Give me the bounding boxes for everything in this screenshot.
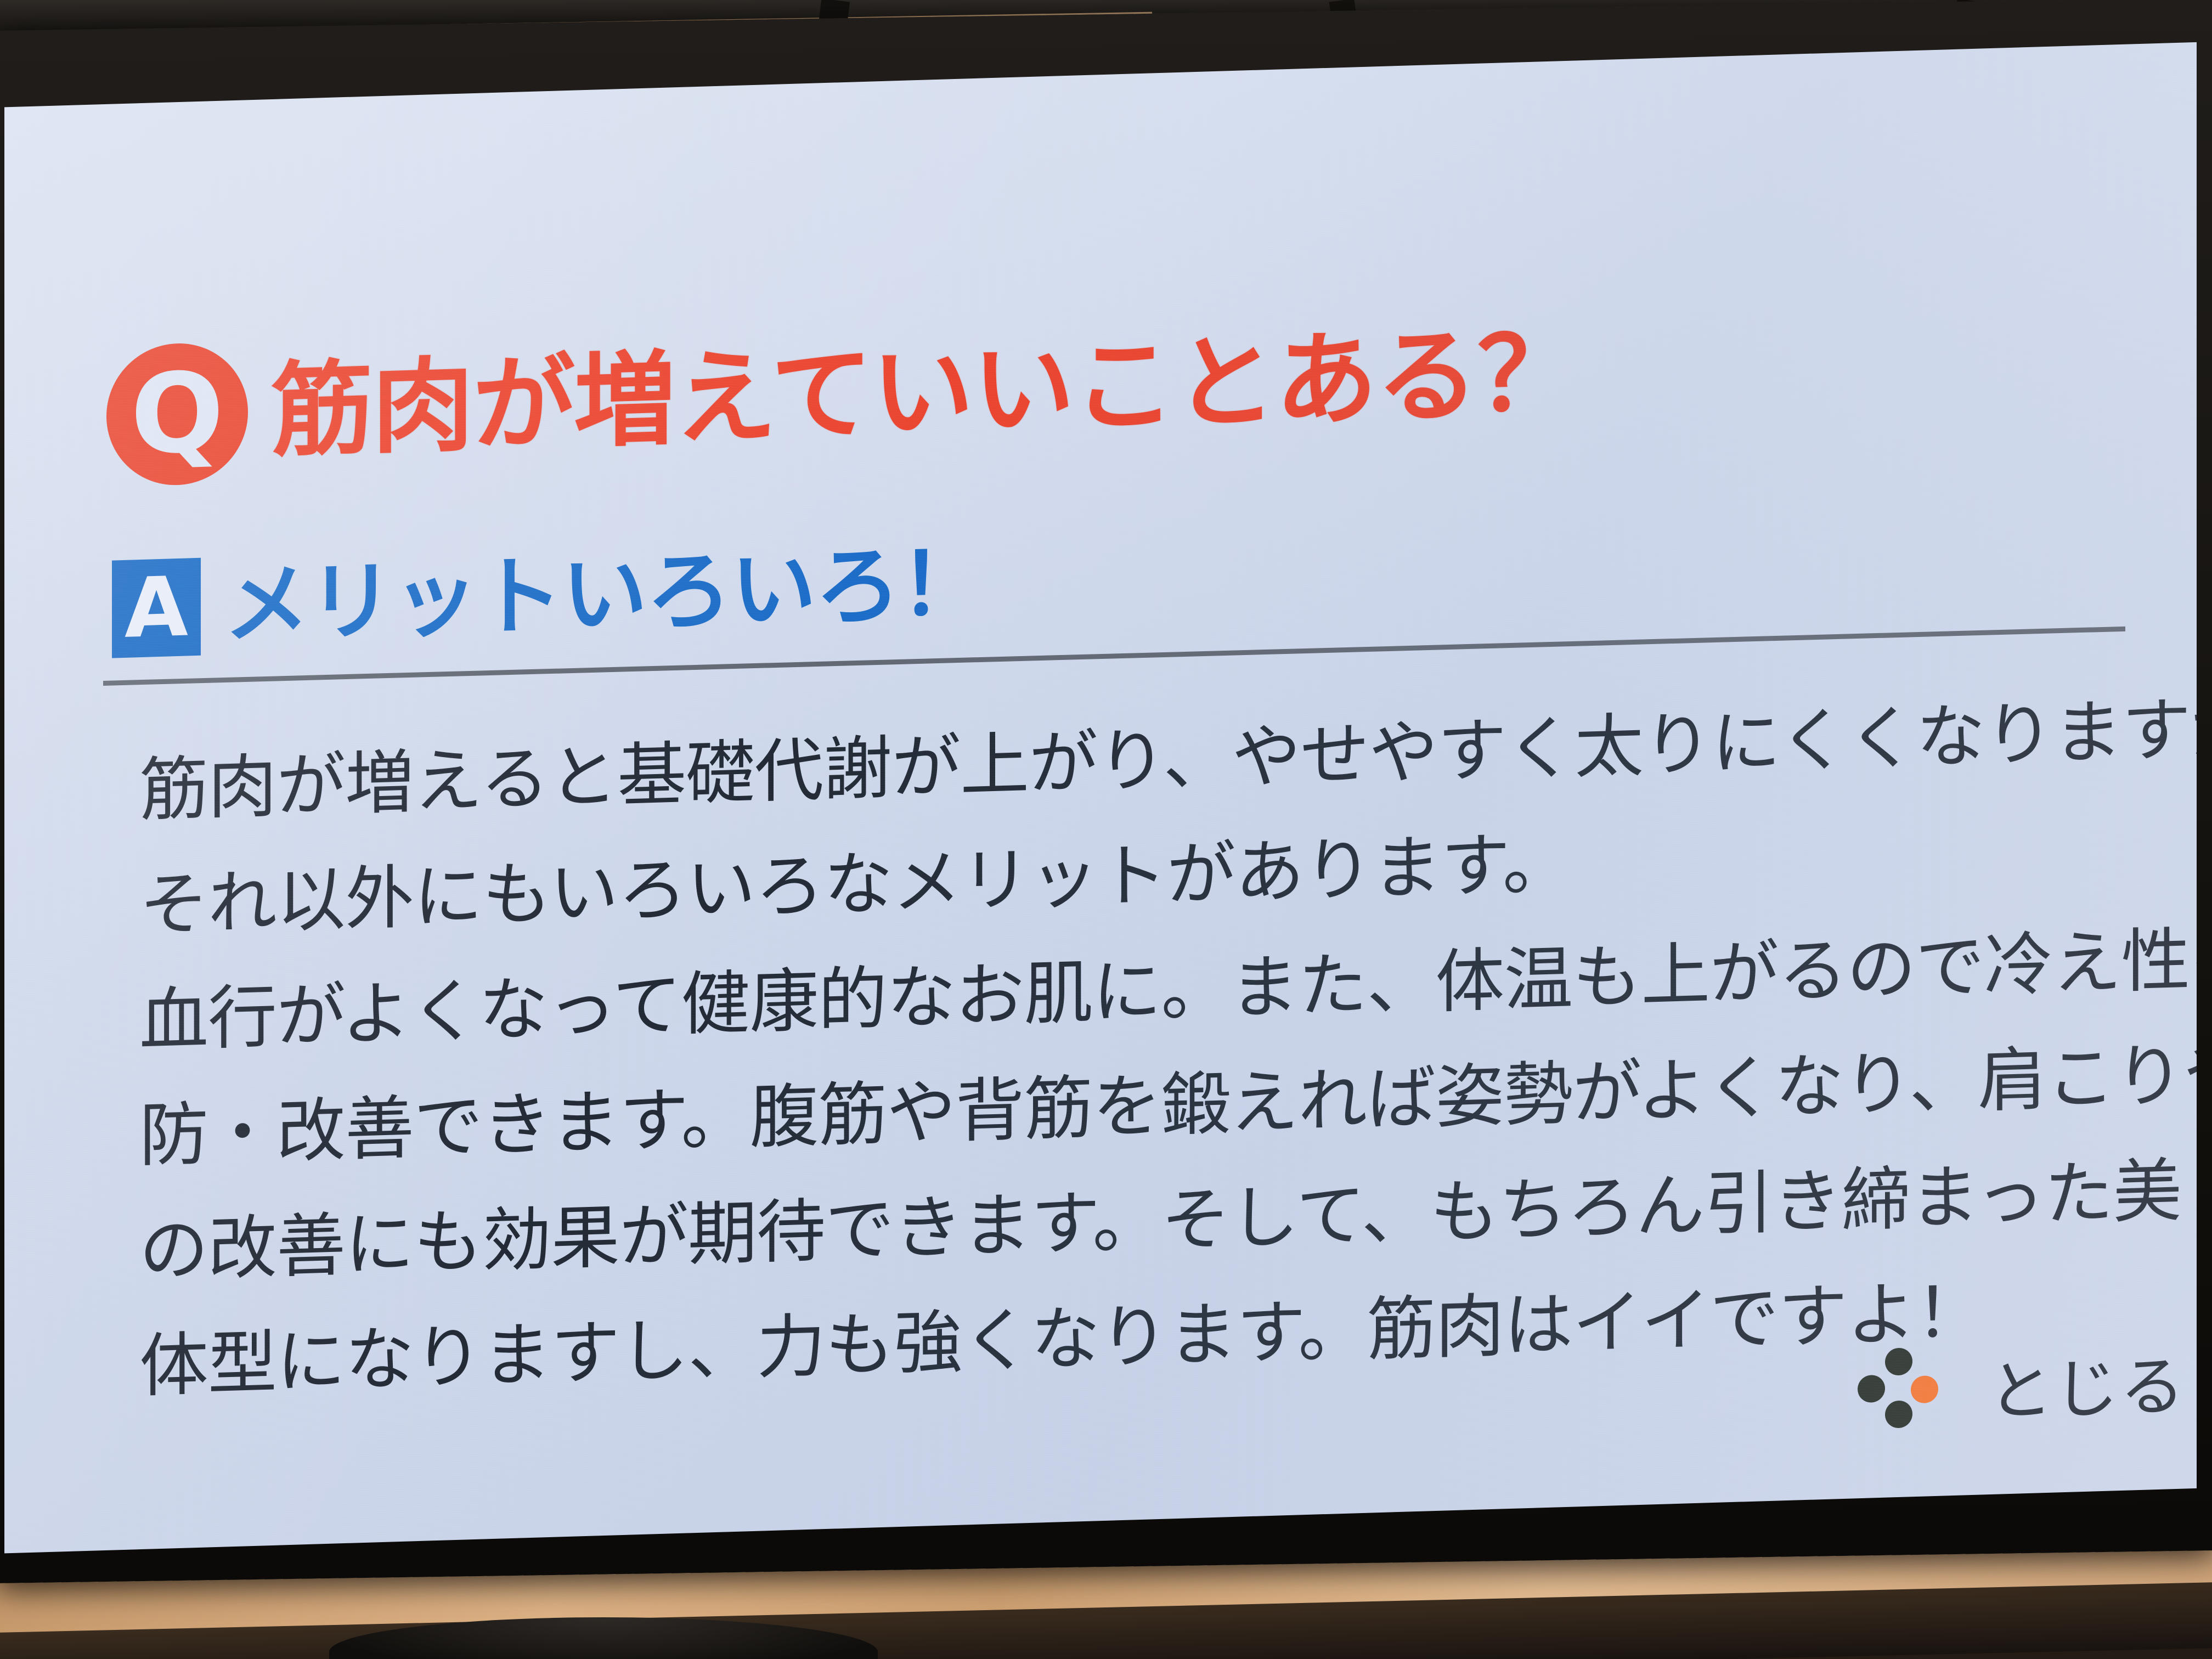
question-badge-icon: Q [106, 341, 248, 487]
answer-title: メリットいろいろ！ [224, 540, 984, 650]
tv-screen: Q 筋肉が増えていいことある？ A メリットいろいろ！ 筋肉が増えると基礎代謝が… [4, 42, 2197, 1554]
dpad-four-dot-icon [1858, 1346, 1940, 1431]
question-title: 筋肉が増えていいことある？ [271, 320, 1578, 463]
question-row: Q 筋肉が増えていいことある？ [106, 302, 1578, 487]
dpad-dot-down-icon [1885, 1400, 1912, 1428]
body-paragraph: 筋肉が増えると基礎代謝が上がり、やせやすく太りにくくなりますが、 それ以外にもい… [139, 674, 2125, 1424]
dpad-dot-up-icon [1885, 1347, 1912, 1375]
dpad-dot-left-icon [1858, 1374, 1885, 1402]
close-hint[interactable]: とじる [1858, 1333, 2186, 1437]
photo-scene: Q 筋肉が増えていいことある？ A メリットいろいろ！ 筋肉が増えると基礎代謝が… [0, 0, 2212, 1659]
answer-row: A メリットいろいろ！ [112, 534, 984, 658]
close-hint-label: とじる [1988, 1333, 2186, 1433]
slide-content: Q 筋肉が増えていいことある？ A メリットいろいろ！ 筋肉が増えると基礎代謝が… [4, 42, 2197, 1554]
answer-badge-icon: A [112, 558, 201, 658]
dpad-dot-right-icon [1911, 1375, 1938, 1403]
tv-bezel: Q 筋肉が増えていいことある？ A メリットいろいろ！ 筋肉が増えると基礎代謝が… [0, 0, 2212, 1583]
